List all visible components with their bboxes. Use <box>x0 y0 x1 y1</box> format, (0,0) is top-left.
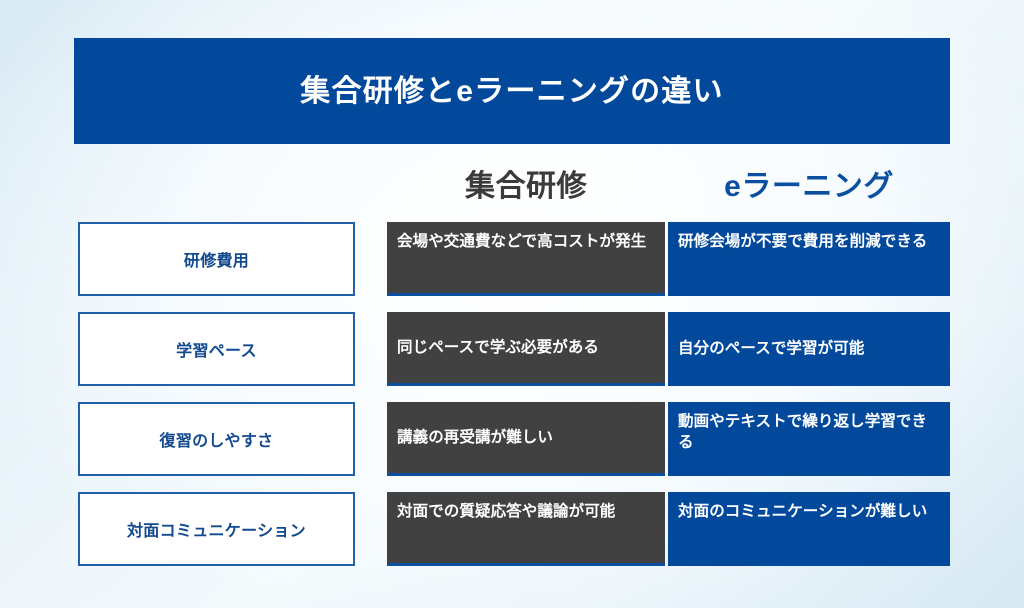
elearning-cell: 研修会場が不要で費用を削減できる <box>668 222 950 296</box>
classroom-cell: 会場や交通費などで高コストが発生 <box>387 222 665 296</box>
table-row: 対面コミュニケーション 対面での質疑応答や議論が可能 対面のコミュニケーションが… <box>0 492 1024 566</box>
classroom-cell: 同じペースで学ぶ必要がある <box>387 312 665 386</box>
column-header-elearning: eラーニング <box>668 160 950 206</box>
column-header-classroom: 集合研修 <box>387 160 665 206</box>
table-row: 復習のしやすさ 講義の再受講が難しい 動画やテキストで繰り返し学習できる <box>0 402 1024 476</box>
classroom-cell: 対面での質疑応答や議論が可能 <box>387 492 665 566</box>
row-label-cell: 復習のしやすさ <box>78 402 355 476</box>
infographic-canvas: 集合研修とeラーニングの違い 集合研修 eラーニング 研修費用 会場や交通費など… <box>0 0 1024 608</box>
page-title: 集合研修とeラーニングの違い <box>300 75 723 108</box>
elearning-cell: 動画やテキストで繰り返し学習できる <box>668 402 950 476</box>
row-label-cell: 研修費用 <box>78 222 355 296</box>
elearning-cell: 自分のペースで学習が可能 <box>668 312 950 386</box>
row-label-cell: 対面コミュニケーション <box>78 492 355 566</box>
table-row: 学習ペース 同じペースで学ぶ必要がある 自分のペースで学習が可能 <box>0 312 1024 386</box>
table-row: 研修費用 会場や交通費などで高コストが発生 研修会場が不要で費用を削減できる <box>0 222 1024 296</box>
classroom-cell: 講義の再受講が難しい <box>387 402 665 476</box>
row-label-cell: 学習ペース <box>78 312 355 386</box>
elearning-cell: 対面のコミュニケーションが難しい <box>668 492 950 566</box>
title-banner: 集合研修とeラーニングの違い <box>74 38 950 144</box>
